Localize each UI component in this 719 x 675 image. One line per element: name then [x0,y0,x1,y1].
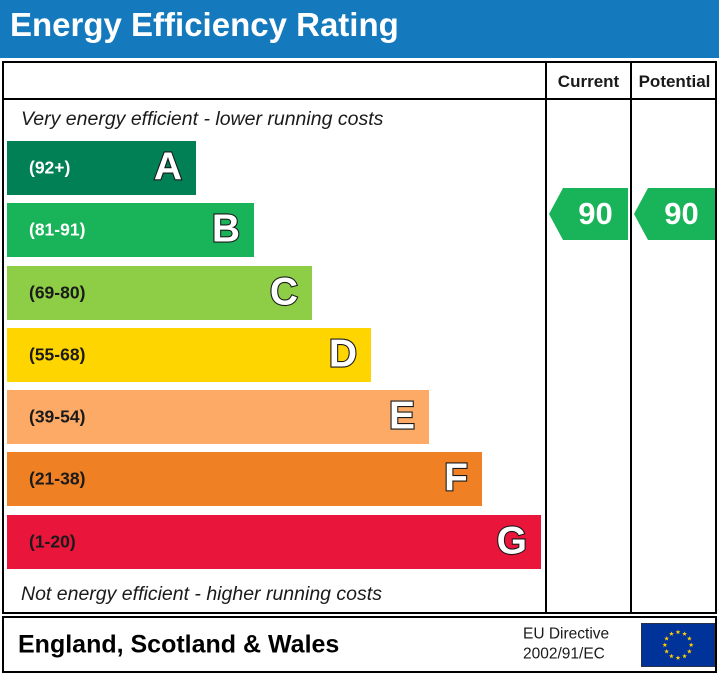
potential-rating-arrow: 90 [634,188,715,240]
page-title: Energy Efficiency Rating [10,6,399,44]
table-header-row: Current Potential [4,63,715,100]
current-rating-arrow: 90 [549,188,628,240]
current-rating-value: 90 [563,198,628,229]
directive-line-2: 2002/91/EC [523,645,609,666]
band-letter-c: C [270,272,298,311]
energy-efficiency-rating-chart: Energy Efficiency Rating Current Potenti… [0,0,719,675]
band-bar-b: (81-91) B [7,203,254,257]
band-letter-f: F [444,459,468,498]
band-row-a: (92+) A [4,139,545,201]
band-letter-b: B [212,210,240,249]
footer-region-label: England, Scotland & Wales [18,630,339,659]
potential-rating-value: 90 [648,198,715,229]
band-range-e: (39-54) [29,407,85,428]
chart-footer: England, Scotland & Wales EU Directive 2… [2,616,717,673]
band-bars-container: (92+) A (81-91) B (69-80) C (55-68) [4,139,545,575]
column-header-current: Current [547,63,630,100]
column-divider-current [545,63,547,612]
caption-not-efficient: Not energy efficient - higher running co… [4,575,545,614]
band-row-f: (21-38) F [4,450,545,512]
band-range-f: (21-38) [29,469,85,490]
band-row-e: (39-54) E [4,388,545,450]
band-bar-c: (69-80) C [7,266,312,320]
band-range-g: (1-20) [29,531,76,552]
directive-line-1: EU Directive [523,624,609,645]
rating-table: Current Potential Very energy efficient … [2,61,717,614]
band-letter-a: A [154,148,182,187]
band-bar-a: (92+) A [7,141,196,195]
column-header-potential: Potential [632,63,717,100]
band-bar-e: (39-54) E [7,390,429,444]
band-letter-g: G [497,522,527,561]
band-row-g: (1-20) G [4,513,545,575]
band-range-a: (92+) [29,158,70,179]
band-row-d: (55-68) D [4,326,545,388]
chart-banner: Energy Efficiency Rating [0,0,719,58]
band-bar-g: (1-20) G [7,515,541,569]
footer-directive-label: EU Directive 2002/91/EC [523,624,609,665]
band-bar-d: (55-68) D [7,328,371,382]
caption-very-efficient: Very energy efficient - lower running co… [4,100,545,139]
eu-flag-icon [641,623,715,667]
band-range-b: (81-91) [29,220,85,241]
band-letter-d: D [329,335,357,374]
band-letter-e: E [389,397,415,436]
band-row-c: (69-80) C [4,264,545,326]
band-row-b: (81-91) B [4,201,545,263]
column-divider-potential [630,63,632,612]
band-bar-f: (21-38) F [7,452,482,506]
band-range-d: (55-68) [29,344,85,365]
band-range-c: (69-80) [29,282,85,303]
